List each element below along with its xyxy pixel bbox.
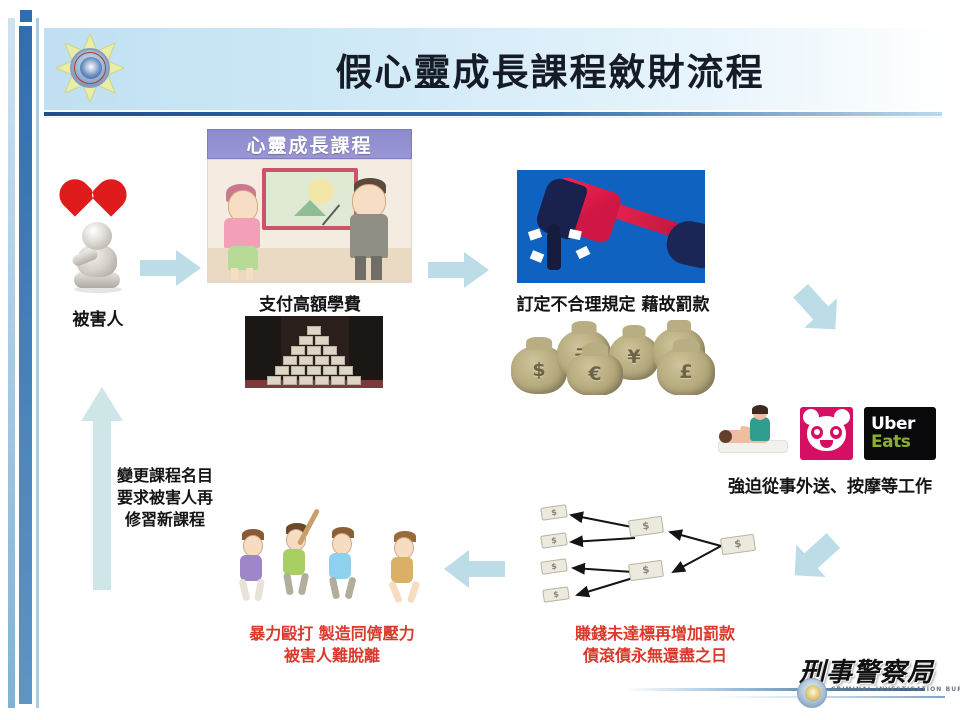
teacher-left-figure [222, 184, 268, 280]
massage-illustration [716, 405, 792, 461]
slide-canvas: 假心靈成長課程斂財流程 被害人 心靈成長課程 [0, 0, 960, 720]
money-multiplication-diagram: $ $ $ $ $ $ $ [525, 500, 775, 612]
teacher-right-figure [348, 178, 400, 280]
police-emblem-icon [55, 33, 125, 103]
arrow-victim-to-course-icon [140, 248, 202, 288]
cib-subtitle: CRIMINAL INVESTIGATION BUREAU [831, 686, 960, 693]
tuition-caption: 支付高額學費 [235, 290, 385, 315]
broken-heart-icon [62, 168, 124, 224]
classroom-illustration [207, 159, 412, 283]
header-divider-rule [44, 112, 942, 116]
bully-figure [326, 527, 370, 611]
forced-work-caption: 強迫從事外送、按摩等工作 [710, 472, 950, 497]
arrow-debt-to-violence-icon [443, 548, 505, 590]
violence-caption-line2: 被害人難脫離 [228, 642, 436, 666]
cib-logo: 刑事警察局 CRIMINAL INVESTIGATION BUREAU [775, 652, 955, 710]
bullying-illustration [228, 505, 436, 613]
sad-person-icon [68, 222, 130, 294]
foodpanda-logo-icon [800, 407, 853, 460]
ubereats-line1: Uber [871, 416, 915, 433]
arrow-work-to-debt-icon [786, 530, 842, 586]
left-accent-bar-outer [8, 18, 15, 708]
arrow-course-to-rules-icon [428, 250, 490, 290]
recourse-caption-line2: 要求被害人再 [100, 484, 230, 508]
course-tag-label: 心靈成長課程 [207, 129, 412, 159]
rules-caption: 訂定不合理規定 藉故罰款 [498, 290, 728, 315]
left-accent-bar-thin [36, 18, 39, 708]
ubereats-logo-icon: Uber Eats [864, 407, 936, 460]
header-divider-rule-light [44, 117, 942, 118]
page-title: 假心靈成長課程斂財流程 [230, 36, 870, 102]
arrow-rules-to-work-icon [790, 282, 846, 338]
cash-pyramid-photo [243, 314, 385, 390]
corner-square-decoration [20, 10, 32, 22]
ubereats-line2: Eats [871, 433, 910, 451]
money-bag-symbol: € [567, 352, 623, 395]
debt-caption-line2: 債滾債永無還盡之日 [545, 642, 765, 666]
victim-label: 被害人 [48, 305, 148, 330]
money-bag-symbol: £ [657, 348, 715, 395]
recourse-caption-line3: 修習新課程 [100, 506, 230, 530]
cib-badge-icon [797, 678, 827, 708]
left-accent-bar-inner [19, 26, 32, 704]
cib-swoosh-decoration-2 [715, 696, 945, 698]
hammer-penalty-photo [515, 168, 707, 285]
recourse-caption-line1: 變更課程名目 [100, 462, 230, 486]
violence-caption-line1: 暴力毆打 製造同儕壓力 [228, 620, 436, 644]
money-bags-illustration: $ 元 ¥ ₹ € £ [505, 320, 727, 395]
bully-figure [280, 523, 324, 609]
fleeing-victim-figure [388, 531, 432, 613]
debt-caption-line1: 賺錢未達標再增加罰款 [545, 620, 765, 644]
bully-figure [238, 529, 278, 609]
